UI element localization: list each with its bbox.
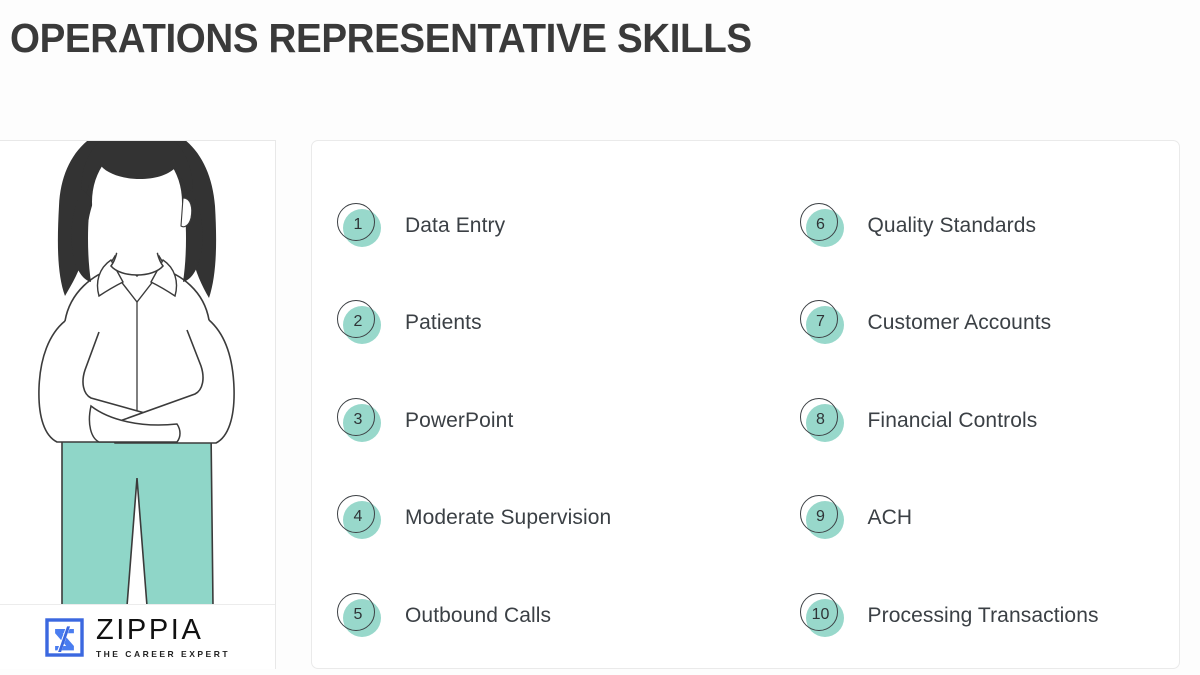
skill-number: 4 <box>337 495 379 539</box>
illustration-panel: ZIPPIA THE CAREER EXPERT <box>0 140 276 669</box>
page-title: OPERATIONS REPRESENTATIVE SKILLS <box>10 15 752 62</box>
skill-number: 1 <box>337 203 379 247</box>
skill-number-badge: 6 <box>800 203 846 249</box>
skill-number: 3 <box>337 398 379 442</box>
skill-item[interactable]: 8 Financial Controls <box>800 372 1180 470</box>
skills-column-left: 1 Data Entry 2 Patients 3 P <box>312 177 746 668</box>
skill-number-badge: 2 <box>337 300 383 346</box>
skill-label: Financial Controls <box>868 409 1038 433</box>
skill-item[interactable]: 3 PowerPoint <box>337 372 746 470</box>
skill-number: 8 <box>800 398 842 442</box>
skill-number-badge: 7 <box>800 300 846 346</box>
skill-label: Quality Standards <box>868 214 1037 238</box>
skill-number: 9 <box>800 495 842 539</box>
skill-item[interactable]: 6 Quality Standards <box>800 177 1180 275</box>
skill-label: Moderate Supervision <box>405 506 611 530</box>
skill-label: PowerPoint <box>405 409 513 433</box>
skill-item[interactable]: 1 Data Entry <box>337 177 746 275</box>
skill-number-badge: 9 <box>800 495 846 541</box>
skill-item[interactable]: 9 ACH <box>800 470 1180 568</box>
skill-number-badge: 4 <box>337 495 383 541</box>
skill-number-badge: 8 <box>800 398 846 444</box>
skill-label: Data Entry <box>405 214 505 238</box>
woman-arms-crossed-illustration <box>0 141 275 604</box>
skill-item[interactable]: 10 Processing Transactions <box>800 567 1180 665</box>
skill-number-badge: 3 <box>337 398 383 444</box>
skill-label: Customer Accounts <box>868 311 1052 335</box>
skill-number: 7 <box>800 300 842 344</box>
skill-label: Outbound Calls <box>405 604 551 628</box>
illustration-clip <box>0 141 275 604</box>
skills-card: 1 Data Entry 2 Patients 3 P <box>311 140 1180 669</box>
zippia-tagline: THE CAREER EXPERT <box>96 649 230 659</box>
skill-label: Patients <box>405 311 482 335</box>
page-root: OPERATIONS REPRESENTATIVE SKILLS <box>0 0 1200 675</box>
zippia-logo[interactable]: ZIPPIA THE CAREER EXPERT <box>0 604 275 669</box>
skill-label: ACH <box>868 506 913 530</box>
skill-number-badge: 10 <box>800 593 846 639</box>
skills-column-right: 6 Quality Standards 7 Customer Accounts … <box>746 177 1180 668</box>
skill-item[interactable]: 5 Outbound Calls <box>337 567 746 665</box>
zippia-wordmark: ZIPPIA <box>96 616 203 645</box>
skill-number: 6 <box>800 203 842 247</box>
skill-number: 2 <box>337 300 379 344</box>
skill-label: Processing Transactions <box>868 604 1099 628</box>
skill-number: 10 <box>800 593 842 637</box>
skill-item[interactable]: 2 Patients <box>337 275 746 373</box>
skill-number-badge: 1 <box>337 203 383 249</box>
skill-item[interactable]: 7 Customer Accounts <box>800 275 1180 373</box>
skill-number: 5 <box>337 593 379 637</box>
skill-item[interactable]: 4 Moderate Supervision <box>337 470 746 568</box>
skill-number-badge: 5 <box>337 593 383 639</box>
zippia-z-mark-icon <box>44 617 85 658</box>
